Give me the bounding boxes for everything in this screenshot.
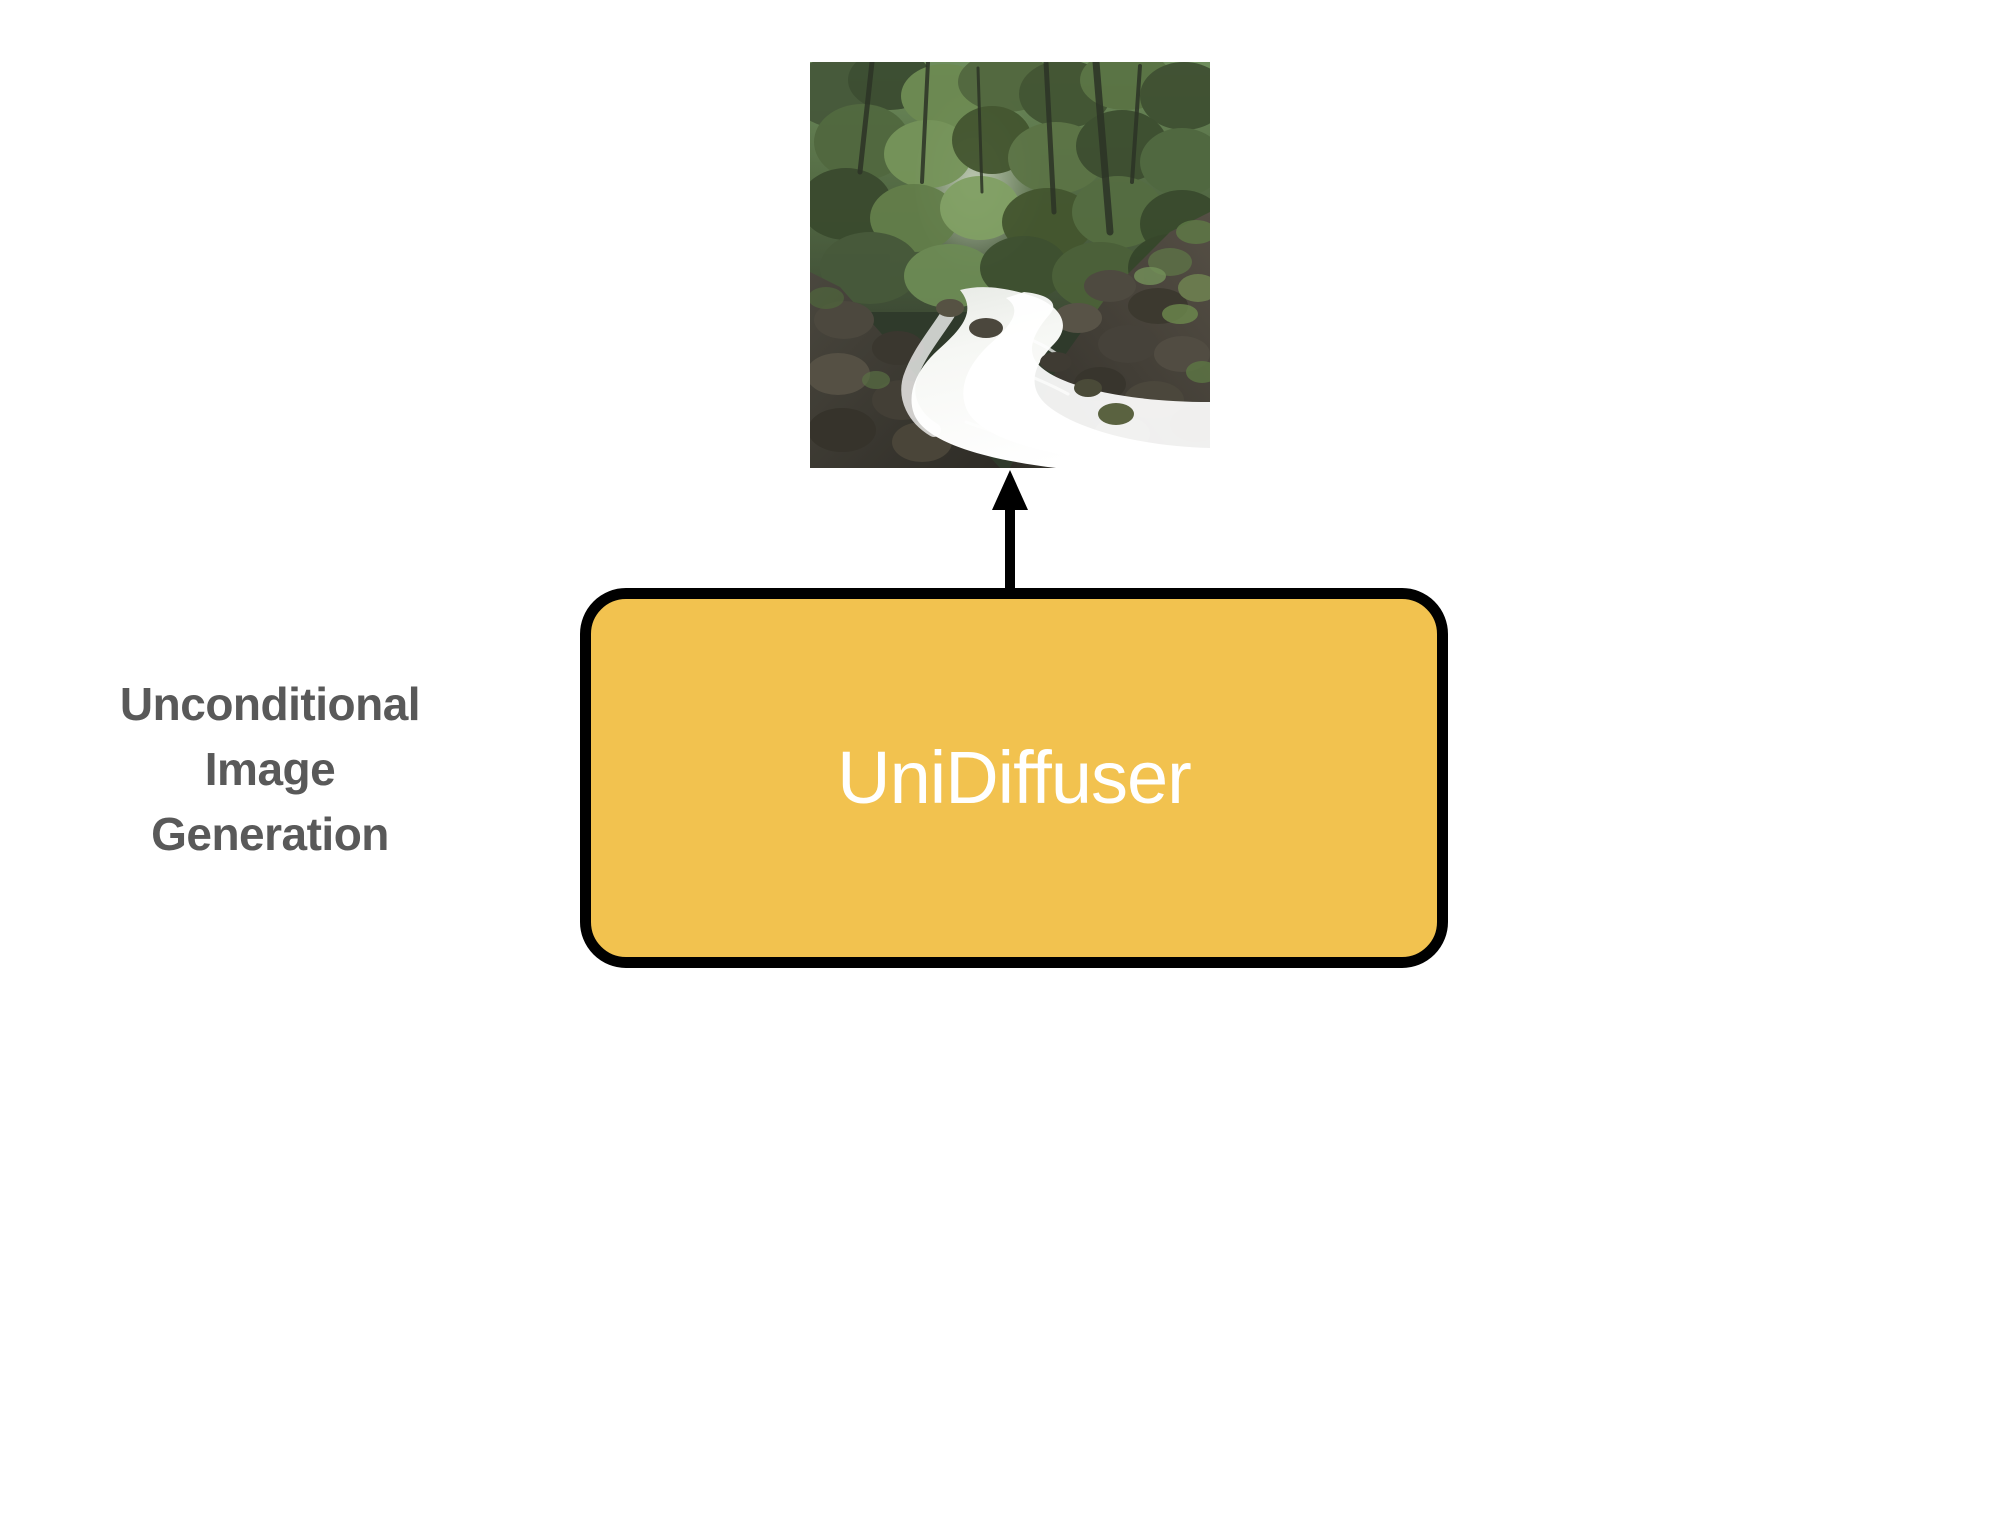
model-box-label: UniDiffuser — [837, 741, 1191, 815]
diagram-canvas: UniDiffuser Unconditional Image Generati… — [0, 0, 1992, 1516]
task-label: Unconditional Image Generation — [60, 672, 480, 867]
arrow-up-icon — [960, 468, 1060, 596]
generated-image — [810, 62, 1210, 468]
model-box-unidiffuser[interactable]: UniDiffuser — [580, 588, 1448, 968]
generated-image-illustration — [810, 62, 1210, 468]
